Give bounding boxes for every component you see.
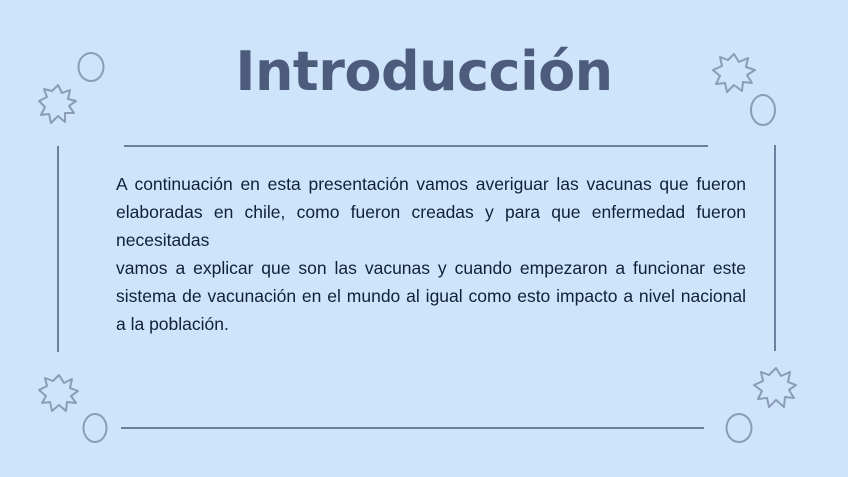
divider-right-vertical [774,145,776,351]
body-paragraph-2: vamos a explicar que son las vacunas y c… [116,254,746,338]
circle-outline-icon [724,412,754,444]
divider-bottom [121,427,704,429]
body-paragraph-1: A continuación en esta presentación vamo… [116,170,746,254]
page-title: Introducción [0,42,848,101]
splat-shape-icon [752,366,798,410]
slide-canvas: Introducción A continuación en esta pres… [0,0,848,477]
circle-outline-icon [81,412,109,444]
divider-top [124,145,708,147]
splat-shape-icon [38,373,80,413]
divider-left-vertical [57,146,59,352]
body-text-block: A continuación en esta presentación vamo… [116,170,746,338]
